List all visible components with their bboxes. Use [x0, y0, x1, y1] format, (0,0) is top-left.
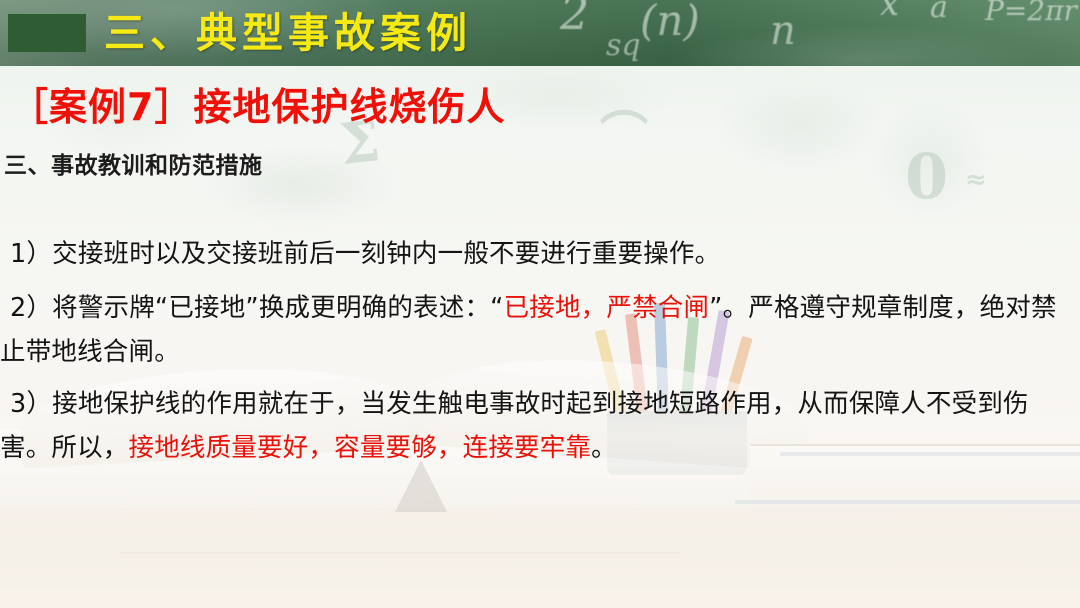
chalk-mark-2: 2	[560, 0, 589, 40]
slide-canvas: 0 ≈ Σ ⌒ 2 (n) n x a P=2πr sq — 三	[0, 0, 1080, 608]
case-title: ［案例7］接地保护线烧伤人	[10, 76, 505, 131]
chalk-mark-sq: sq	[606, 28, 641, 63]
list-item: 2）将警示牌“已接地”换成更明确的表述：“已接地，严禁合闸”。严格遵守规章制度，…	[0, 286, 1080, 374]
stacked-book-edge-2	[735, 500, 1080, 504]
chalk-mark-paren-n: (n)	[640, 0, 700, 45]
chalkboard-header: 2 (n) n x a P=2πr sq — 三、典型事故案例	[0, 0, 1080, 66]
ghost-glyph-zero: 0	[905, 140, 948, 213]
header-title: 三、典型事故案例	[104, 3, 472, 63]
measures-list: 1）交接班时以及交接班前后一刻钟内一般不要进行重要操作。 2）将警示牌“已接地”…	[0, 232, 1080, 470]
chalk-mark-x: x	[880, 0, 899, 24]
emphasis-text: 接地线质量要好，容量要够，连接要牢靠	[129, 433, 592, 463]
list-item: 3）接地保护线的作用就在于，当发生触电事故时起到接地短路作用，从而保障人不受到伤…	[0, 382, 1080, 470]
header-accent-swatch	[8, 14, 86, 52]
chalk-mark-a: a	[930, 0, 948, 25]
ghost-glyph-approx: ≈	[965, 165, 987, 195]
body-text: 2）将警示牌“已接地”换成更明确的表述：“	[10, 293, 504, 323]
desk-grain-line	[120, 552, 680, 554]
section-subtitle: 三、事故教训和防范措施	[4, 146, 263, 180]
body-text: 。	[591, 433, 617, 463]
chalk-mark-n: n	[770, 8, 796, 54]
body-text: 1）交接班时以及交接班前后一刻钟内一般不要进行重要操作。	[10, 239, 720, 269]
ghost-glyph-curve: ⌒	[600, 95, 648, 165]
chalk-mark-formula: P=2πr	[985, 0, 1077, 27]
list-item: 1）交接班时以及交接班前后一刻钟内一般不要进行重要操作。	[0, 232, 1080, 276]
emphasis-text: 已接地，严禁合闸	[504, 293, 710, 323]
